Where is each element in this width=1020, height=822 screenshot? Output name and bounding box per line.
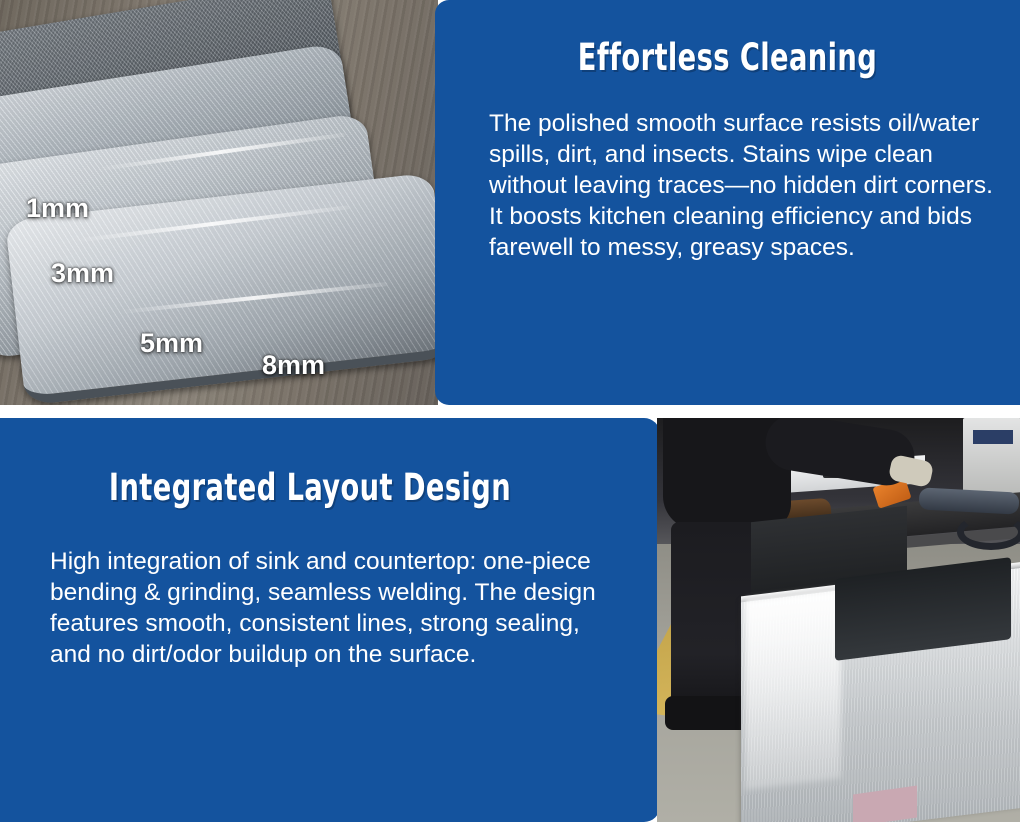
countertop-specular-highlight [745, 588, 841, 790]
thickness-label-8mm: 8mm [262, 350, 325, 381]
machine-control-panel [973, 430, 1013, 444]
text-panel-integrated-layout-design: Integrated Layout Design High integratio… [0, 418, 660, 822]
workshop-fabrication-photo [657, 418, 1020, 822]
product-feature-infographic: 1mm 3mm 5mm 8mm Effortless Cleaning The … [0, 0, 1020, 822]
section-body-integrated-layout-design: High integration of sink and countertop:… [50, 546, 602, 670]
feature-section-integrated-layout-design: Integrated Layout Design High integratio… [0, 418, 1020, 822]
feature-section-effortless-cleaning: 1mm 3mm 5mm 8mm Effortless Cleaning The … [0, 0, 1020, 405]
section-title-effortless-cleaning: Effortless Cleaning [488, 36, 968, 79]
section-title-integrated-layout-design: Integrated Layout Design [56, 466, 564, 509]
section-body-effortless-cleaning: The polished smooth surface resists oil/… [489, 108, 997, 263]
text-panel-effortless-cleaning: Effortless Cleaning The polished smooth … [435, 0, 1020, 405]
coiled-hose [957, 514, 1020, 550]
steel-plate-thickness-photo: 1mm 3mm 5mm 8mm [0, 0, 438, 405]
thickness-label-1mm: 1mm [26, 193, 89, 224]
thickness-label-5mm: 5mm [140, 328, 203, 359]
thickness-label-3mm: 3mm [51, 258, 114, 289]
